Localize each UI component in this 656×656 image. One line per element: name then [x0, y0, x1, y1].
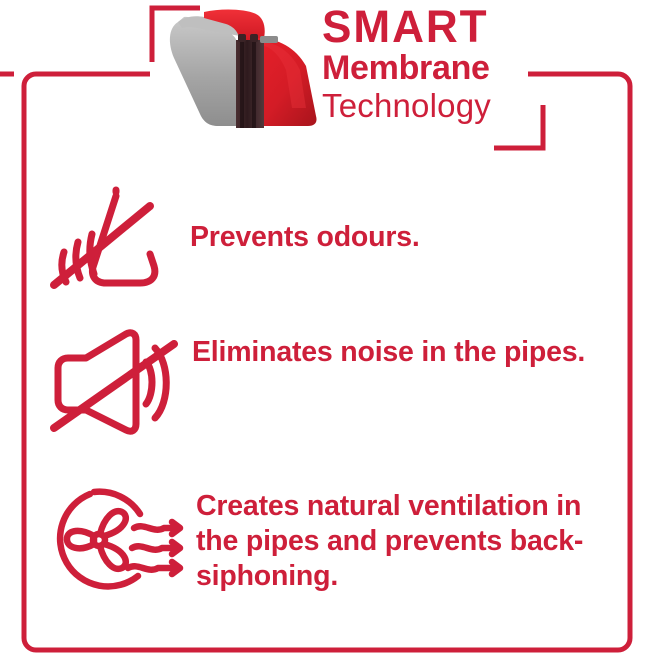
feature-row-noise: Eliminates noise in the pipes.: [42, 318, 642, 440]
feature-row-odours: Prevents odours.: [42, 182, 642, 297]
feature-label-odours: Prevents odours.: [190, 220, 420, 255]
feature-row-ventilation: Creates natural ventilation in the pipes…: [42, 478, 642, 600]
logo-wordmark: SMART Membrane Technology: [322, 4, 537, 134]
membrane-trap-product-photo: [160, 4, 325, 129]
airflow-line-1: [134, 526, 178, 529]
product-nub-1: [238, 34, 246, 42]
logo-line-smart: SMART: [322, 4, 533, 50]
feature-label-noise: Eliminates noise in the pipes.: [192, 335, 585, 370]
odour-strikethrough: [54, 206, 150, 285]
fan-housing-circle: [60, 494, 138, 586]
no-odour-icon: [42, 182, 177, 297]
no-noise-speaker-icon: [42, 318, 184, 440]
feature-label-ventilation: Creates natural ventilation in the pipes…: [196, 489, 583, 594]
product-band-groove-1: [240, 40, 244, 128]
airflow-line-3: [128, 566, 178, 569]
product-band-groove-2: [252, 40, 256, 128]
sound-wave-1: [146, 362, 152, 404]
infographic-card: SMART Membrane Technology Pr: [0, 0, 656, 656]
logo-line-technology: Technology: [322, 87, 537, 124]
product-nub-2: [250, 34, 258, 42]
fan-ventilation-icon: [42, 478, 192, 600]
logo-line-membrane: Membrane: [322, 50, 537, 87]
airflow-line-2: [132, 546, 178, 549]
product-clip: [260, 36, 278, 43]
smart-membrane-technology-logo: SMART Membrane Technology: [160, 0, 540, 140]
